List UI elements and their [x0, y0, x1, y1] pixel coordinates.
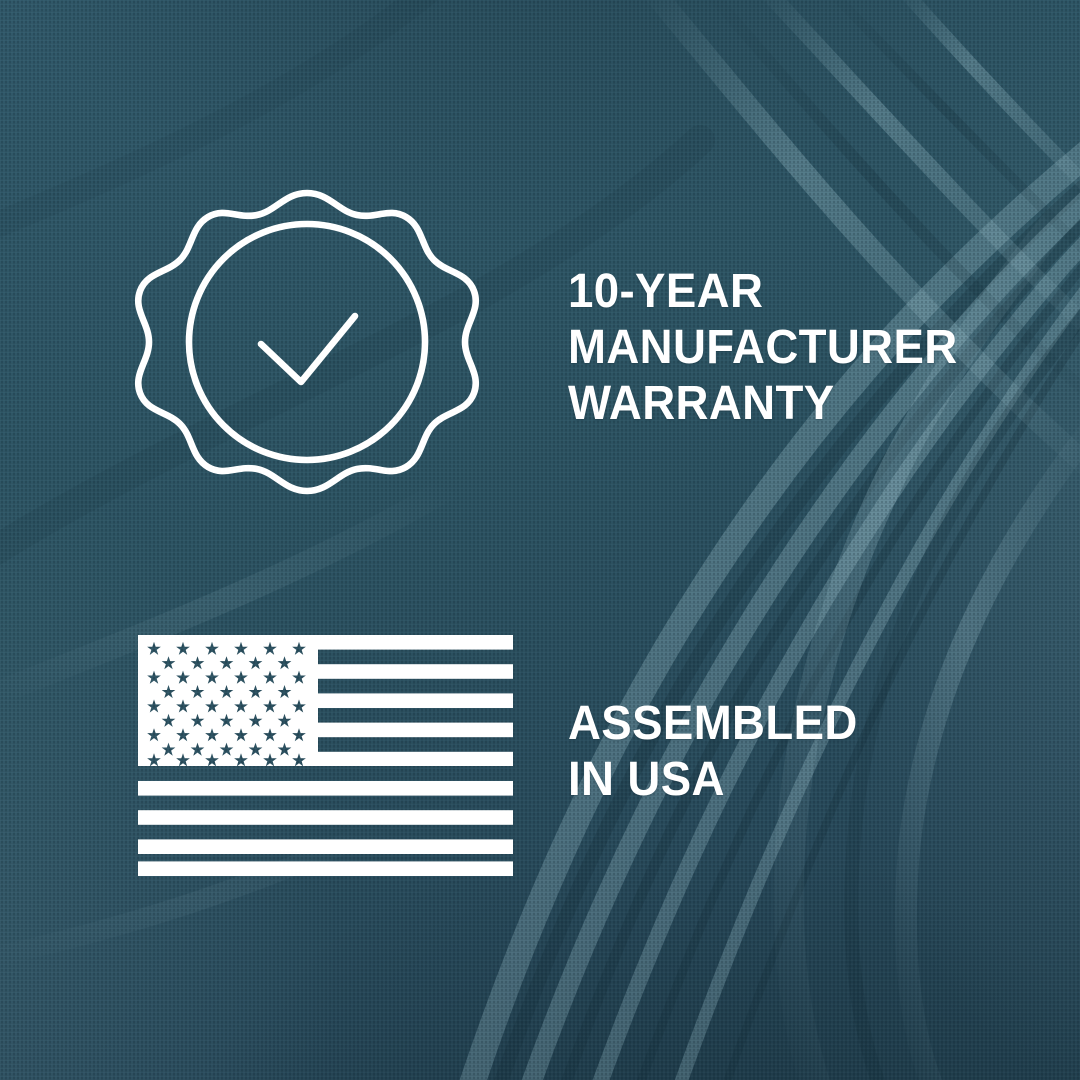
background-mesh-texture [0, 0, 1080, 1080]
feature-graphic: 10-YEAR MANUFACTURER WARRANTY ASSEMBLED … [0, 0, 1080, 1080]
warranty-headline: 10-YEAR MANUFACTURER WARRANTY [568, 264, 1015, 432]
usa-flag-icon [138, 635, 513, 876]
verified-badge-check-icon [133, 182, 481, 538]
flag-full-stripes [138, 781, 513, 876]
assembled-in-usa-headline: ASSEMBLED IN USA [568, 696, 1015, 808]
flag-canton [138, 635, 318, 766]
flag-short-stripes [318, 635, 513, 766]
